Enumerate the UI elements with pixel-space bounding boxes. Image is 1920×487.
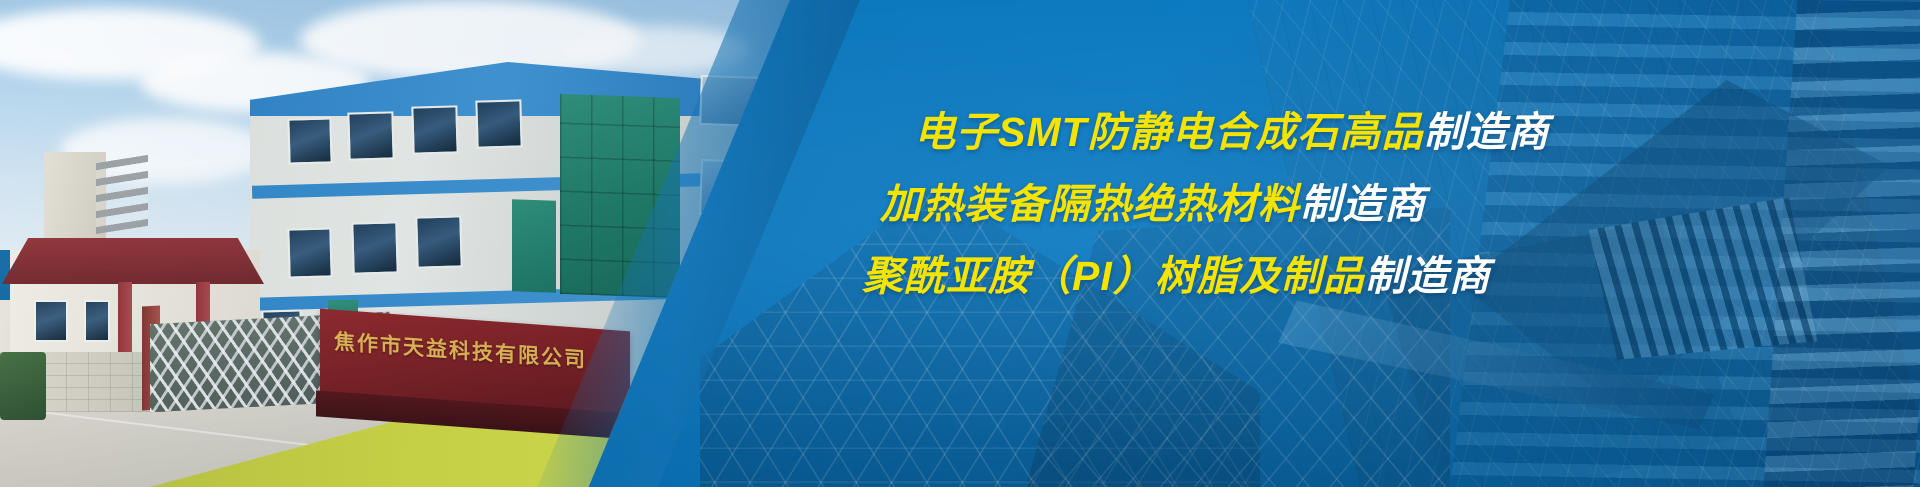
headline-line-1: 电子SMT防静电合成石高品制造商 bbox=[914, 112, 1822, 153]
headline-2-suffix: 制造商 bbox=[1300, 181, 1426, 227]
headline-3-highlight: 聚酰亚胺（PI）树脂及制品 bbox=[862, 253, 1365, 299]
headline-line-2: 加热装备隔热绝热材料制造商 bbox=[880, 184, 1822, 225]
promo-banner: 焦作市天益科技有限公司 电子SMT防静电合成石高品制造商 加热装备隔热绝热材料制… bbox=[0, 0, 1920, 487]
headline-3-suffix: 制造商 bbox=[1365, 253, 1491, 299]
headline-group: 电子SMT防静电合成石高品制造商 加热装备隔热绝热材料制造商 聚酰亚胺（PI）树… bbox=[862, 112, 1822, 297]
headline-1-suffix: 制造商 bbox=[1424, 109, 1550, 155]
headline-line-3: 聚酰亚胺（PI）树脂及制品制造商 bbox=[862, 256, 1822, 297]
headline-1-highlight: 电子SMT防静电合成石高品 bbox=[914, 109, 1424, 155]
headline-2-highlight: 加热装备隔热绝热材料 bbox=[880, 181, 1300, 227]
